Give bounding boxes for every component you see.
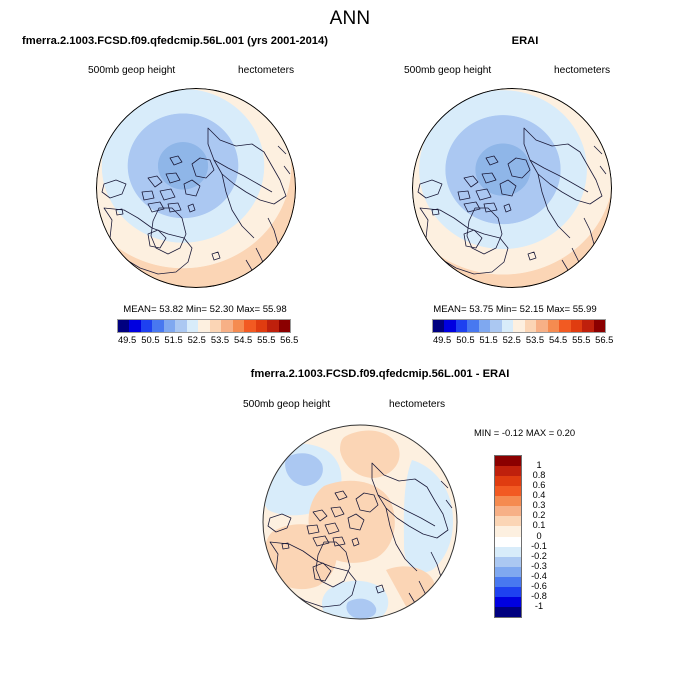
map-model-canvas xyxy=(96,88,296,288)
map-model[interactable] xyxy=(96,88,296,288)
map-diff-canvas xyxy=(262,424,458,620)
colorbar-obs-strip xyxy=(432,319,606,333)
model-field-label: 500mb geop height xyxy=(88,65,175,76)
colorbar-diff-strip[interactable] xyxy=(494,455,522,618)
map-obs[interactable] xyxy=(412,88,612,288)
colorbar-obs-labels: 49.5 50.5 51.5 52.5 53.5 54.5 55.5 56.5 xyxy=(432,333,606,347)
colorbar-model[interactable]: 49.5 50.5 51.5 52.5 53.5 54.5 55.5 56.5 xyxy=(117,319,291,347)
model-stats: MEAN= 53.82 Min= 52.30 Max= 55.98 xyxy=(90,304,320,315)
diff-stats: MIN = -0.12 MAX = 0.20 xyxy=(474,427,575,438)
obs-units-label: hectometers xyxy=(554,65,610,76)
diff-units-label: hectometers xyxy=(389,399,445,410)
figure-main-title: ANN xyxy=(0,8,700,30)
colorbar-obs[interactable]: 49.5 50.5 51.5 52.5 53.5 54.5 55.5 56.5 xyxy=(432,319,606,347)
map-obs-canvas xyxy=(412,88,612,288)
model-units-label: hectometers xyxy=(238,65,294,76)
diff-field-label: 500mb geop height xyxy=(243,399,330,410)
colorbar-model-labels: 49.5 50.5 51.5 52.5 53.5 54.5 55.5 56.5 xyxy=(117,333,291,347)
colorbar-model-strip xyxy=(117,319,291,333)
colorbar-diff-labels: 1 0.8 0.6 0.4 0.3 0.2 0.1 0 -0.1 -0.2 -0… xyxy=(524,455,558,616)
panel-title-model: fmerra.2.1003.FCSD.f09.qfedcmip.56L.001 … xyxy=(10,35,340,47)
obs-field-label: 500mb geop height xyxy=(404,65,491,76)
obs-stats: MEAN= 53.75 Min= 52.15 Max= 55.99 xyxy=(400,304,630,315)
map-diff[interactable] xyxy=(262,424,458,620)
panel-title-obs: ERAI xyxy=(360,35,690,47)
panel-title-diff: fmerra.2.1003.FCSD.f09.qfedcmip.56L.001 … xyxy=(175,368,585,380)
